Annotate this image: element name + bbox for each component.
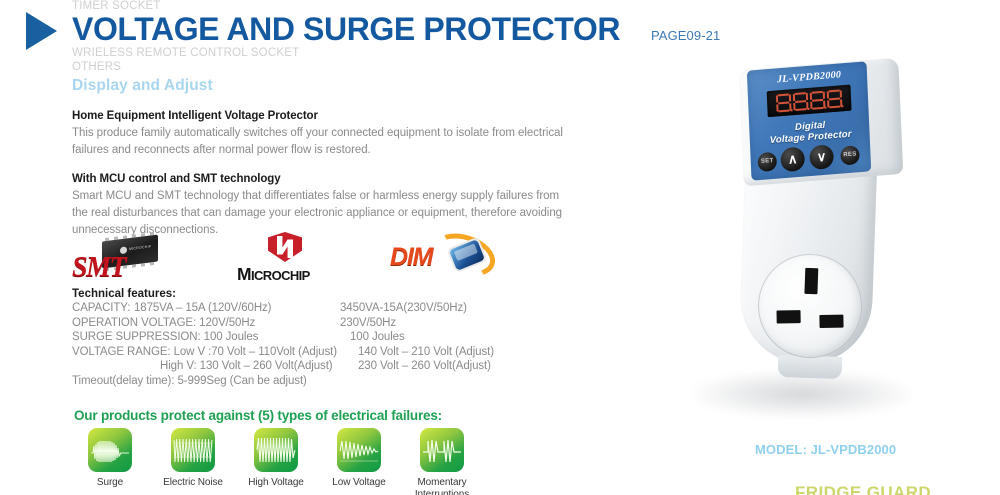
- tech-value-230v: 230 Volt – 260 Volt(Adjust): [358, 360, 491, 372]
- lcd-digit: [827, 89, 843, 109]
- brand-watermark: FRIDGE GUARD: [795, 483, 931, 495]
- partner-logo-row: MICROCHIP SMT MICROCHIP DIM: [72, 234, 492, 284]
- high-voltage-waveform-icon: [254, 428, 298, 472]
- microchip-initial: M: [237, 264, 251, 284]
- failure-label: Low Voltage: [317, 477, 401, 489]
- failure-label: Surge: [68, 477, 152, 489]
- technical-features-title: Technical features:: [72, 288, 592, 300]
- copy-block-mcu-smt: With MCU control and SMT technology Smar…: [72, 173, 572, 239]
- tech-label: OPERATION VOLTAGE: 120V/50Hz: [72, 317, 255, 329]
- page-title: VOLTAGE AND SURGE PROTECTOR: [72, 11, 620, 48]
- copy-body: This produce family automatically switch…: [72, 125, 572, 159]
- tech-row-capacity: CAPACITY: 1875VA – 15A (120V/60Hz) 3450V…: [72, 302, 592, 317]
- lcd-digit: [776, 93, 792, 113]
- tech-value-230v: 140 Volt – 210 Volt (Adjust): [358, 346, 494, 358]
- momentary-interruption-waveform-icon: [420, 428, 464, 472]
- product-model-caption: MODEL: JL-VPDB2000: [755, 442, 896, 457]
- product-plug-foot: [778, 355, 843, 379]
- down-button[interactable]: ∨: [809, 144, 834, 170]
- failure-label: High Voltage: [234, 477, 318, 489]
- section-title: Display and Adjust: [72, 77, 213, 95]
- tech-row-voltage-range-low: VOLTAGE RANGE: Low V :70 Volt – 110Volt …: [72, 346, 592, 361]
- dim-logo: DIM: [390, 234, 500, 280]
- header-ghost-wireless-socket: WRIELESS REMOTE CONTROL SOCKET: [72, 47, 299, 59]
- play-triangle-icon: [26, 12, 57, 50]
- microchip-logo-text: MICROCHIP: [237, 264, 310, 285]
- failure-item-surge: Surge: [68, 428, 152, 489]
- tech-value-120v: 1875VA – 15A (120V/60Hz): [134, 302, 271, 314]
- product-control-panel: JL-VPDB2000 Digital Voltage Protector SE…: [747, 61, 871, 180]
- copy-heading: With MCU control and SMT technology: [72, 173, 572, 185]
- tech-label: VOLTAGE RANGE: Low V :70 Volt – 110Volt …: [72, 346, 337, 358]
- panel-button-row: SET ∧ ∨ RES: [757, 142, 866, 174]
- failures-title: Our products protect against (5) types o…: [74, 408, 442, 423]
- socket-neutral-slot: [819, 315, 843, 328]
- reset-button[interactable]: RES: [840, 145, 860, 165]
- tech-row-surge-suppression: SURGE SUPPRESSION: 100 Joules 100 Joules: [72, 331, 592, 346]
- lcd-display: [767, 85, 852, 118]
- socket-earth-slot: [804, 268, 818, 294]
- lcd-digit: [793, 92, 809, 112]
- failure-icon-row: Surge Electric Noise High Voltage Low Vo…: [68, 428, 488, 495]
- tech-row-operation-voltage: OPERATION VOLTAGE: 120V/50Hz 230V/50Hz: [72, 317, 592, 332]
- copy-block-intelligent-protector: Home Equipment Intelligent Voltage Prote…: [72, 110, 572, 159]
- surge-waveform-icon: [88, 428, 132, 472]
- copy-heading: Home Equipment Intelligent Voltage Prote…: [72, 110, 572, 122]
- smt-logo-text: SMT: [72, 252, 125, 284]
- microchip-rest: ICROCHIP: [251, 268, 310, 283]
- tech-label: High V: 130 Volt – 260 Volt(Adjust): [160, 360, 333, 372]
- panel-model-text: JL-VPDB2000: [759, 68, 859, 87]
- electric-noise-waveform-icon: [171, 428, 215, 472]
- socket-live-slot: [776, 310, 800, 323]
- product-photo: JL-VPDB2000 Digital Voltage Protector SE…: [600, 18, 1000, 458]
- lcd-digit: [810, 90, 826, 110]
- tech-value-230v: 100 Joules: [350, 331, 405, 343]
- dim-logo-text: DIM: [390, 243, 432, 272]
- failure-item-momentary-interruptions: Momentary Interruptions: [400, 428, 484, 495]
- tech-value-230v: 230V/50Hz: [340, 317, 396, 329]
- technical-features: Technical features: CAPACITY: 1875VA – 1…: [72, 288, 592, 389]
- tech-value-230v: 3450VA-15A(230V/50Hz): [340, 302, 467, 314]
- microchip-mark-icon: [268, 232, 302, 262]
- tech-row-voltage-range-high: High V: 130 Volt – 260 Volt(Adjust) 230 …: [72, 360, 592, 375]
- catalog-page: TIMER SOCKET VOLTAGE AND SURGE PROTECTOR…: [0, 0, 1000, 495]
- header-ghost-others: OTHERS: [72, 61, 121, 73]
- failure-item-low-voltage: Low Voltage: [317, 428, 401, 489]
- failure-label: Electric Noise: [151, 477, 235, 489]
- tech-label: SURGE SUPPRESSION: 100 Joules: [72, 331, 258, 343]
- tech-label: Timeout(delay time): 5-999Seg (Can be ad…: [72, 375, 307, 387]
- failure-item-electric-noise: Electric Noise: [151, 428, 235, 489]
- tech-label: CAPACITY:: [72, 302, 130, 314]
- chip-label: MICROCHIP: [129, 244, 151, 251]
- smt-logo: MICROCHIP SMT: [72, 238, 164, 282]
- failure-item-high-voltage: High Voltage: [234, 428, 318, 489]
- failure-label: Momentary Interruptions: [400, 477, 484, 495]
- tech-row-timeout: Timeout(delay time): 5-999Seg (Can be ad…: [72, 375, 592, 390]
- up-button[interactable]: ∧: [780, 146, 805, 172]
- microchip-logo: MICROCHIP: [237, 232, 347, 282]
- low-voltage-waveform-icon: [337, 428, 381, 472]
- set-button[interactable]: SET: [757, 152, 777, 172]
